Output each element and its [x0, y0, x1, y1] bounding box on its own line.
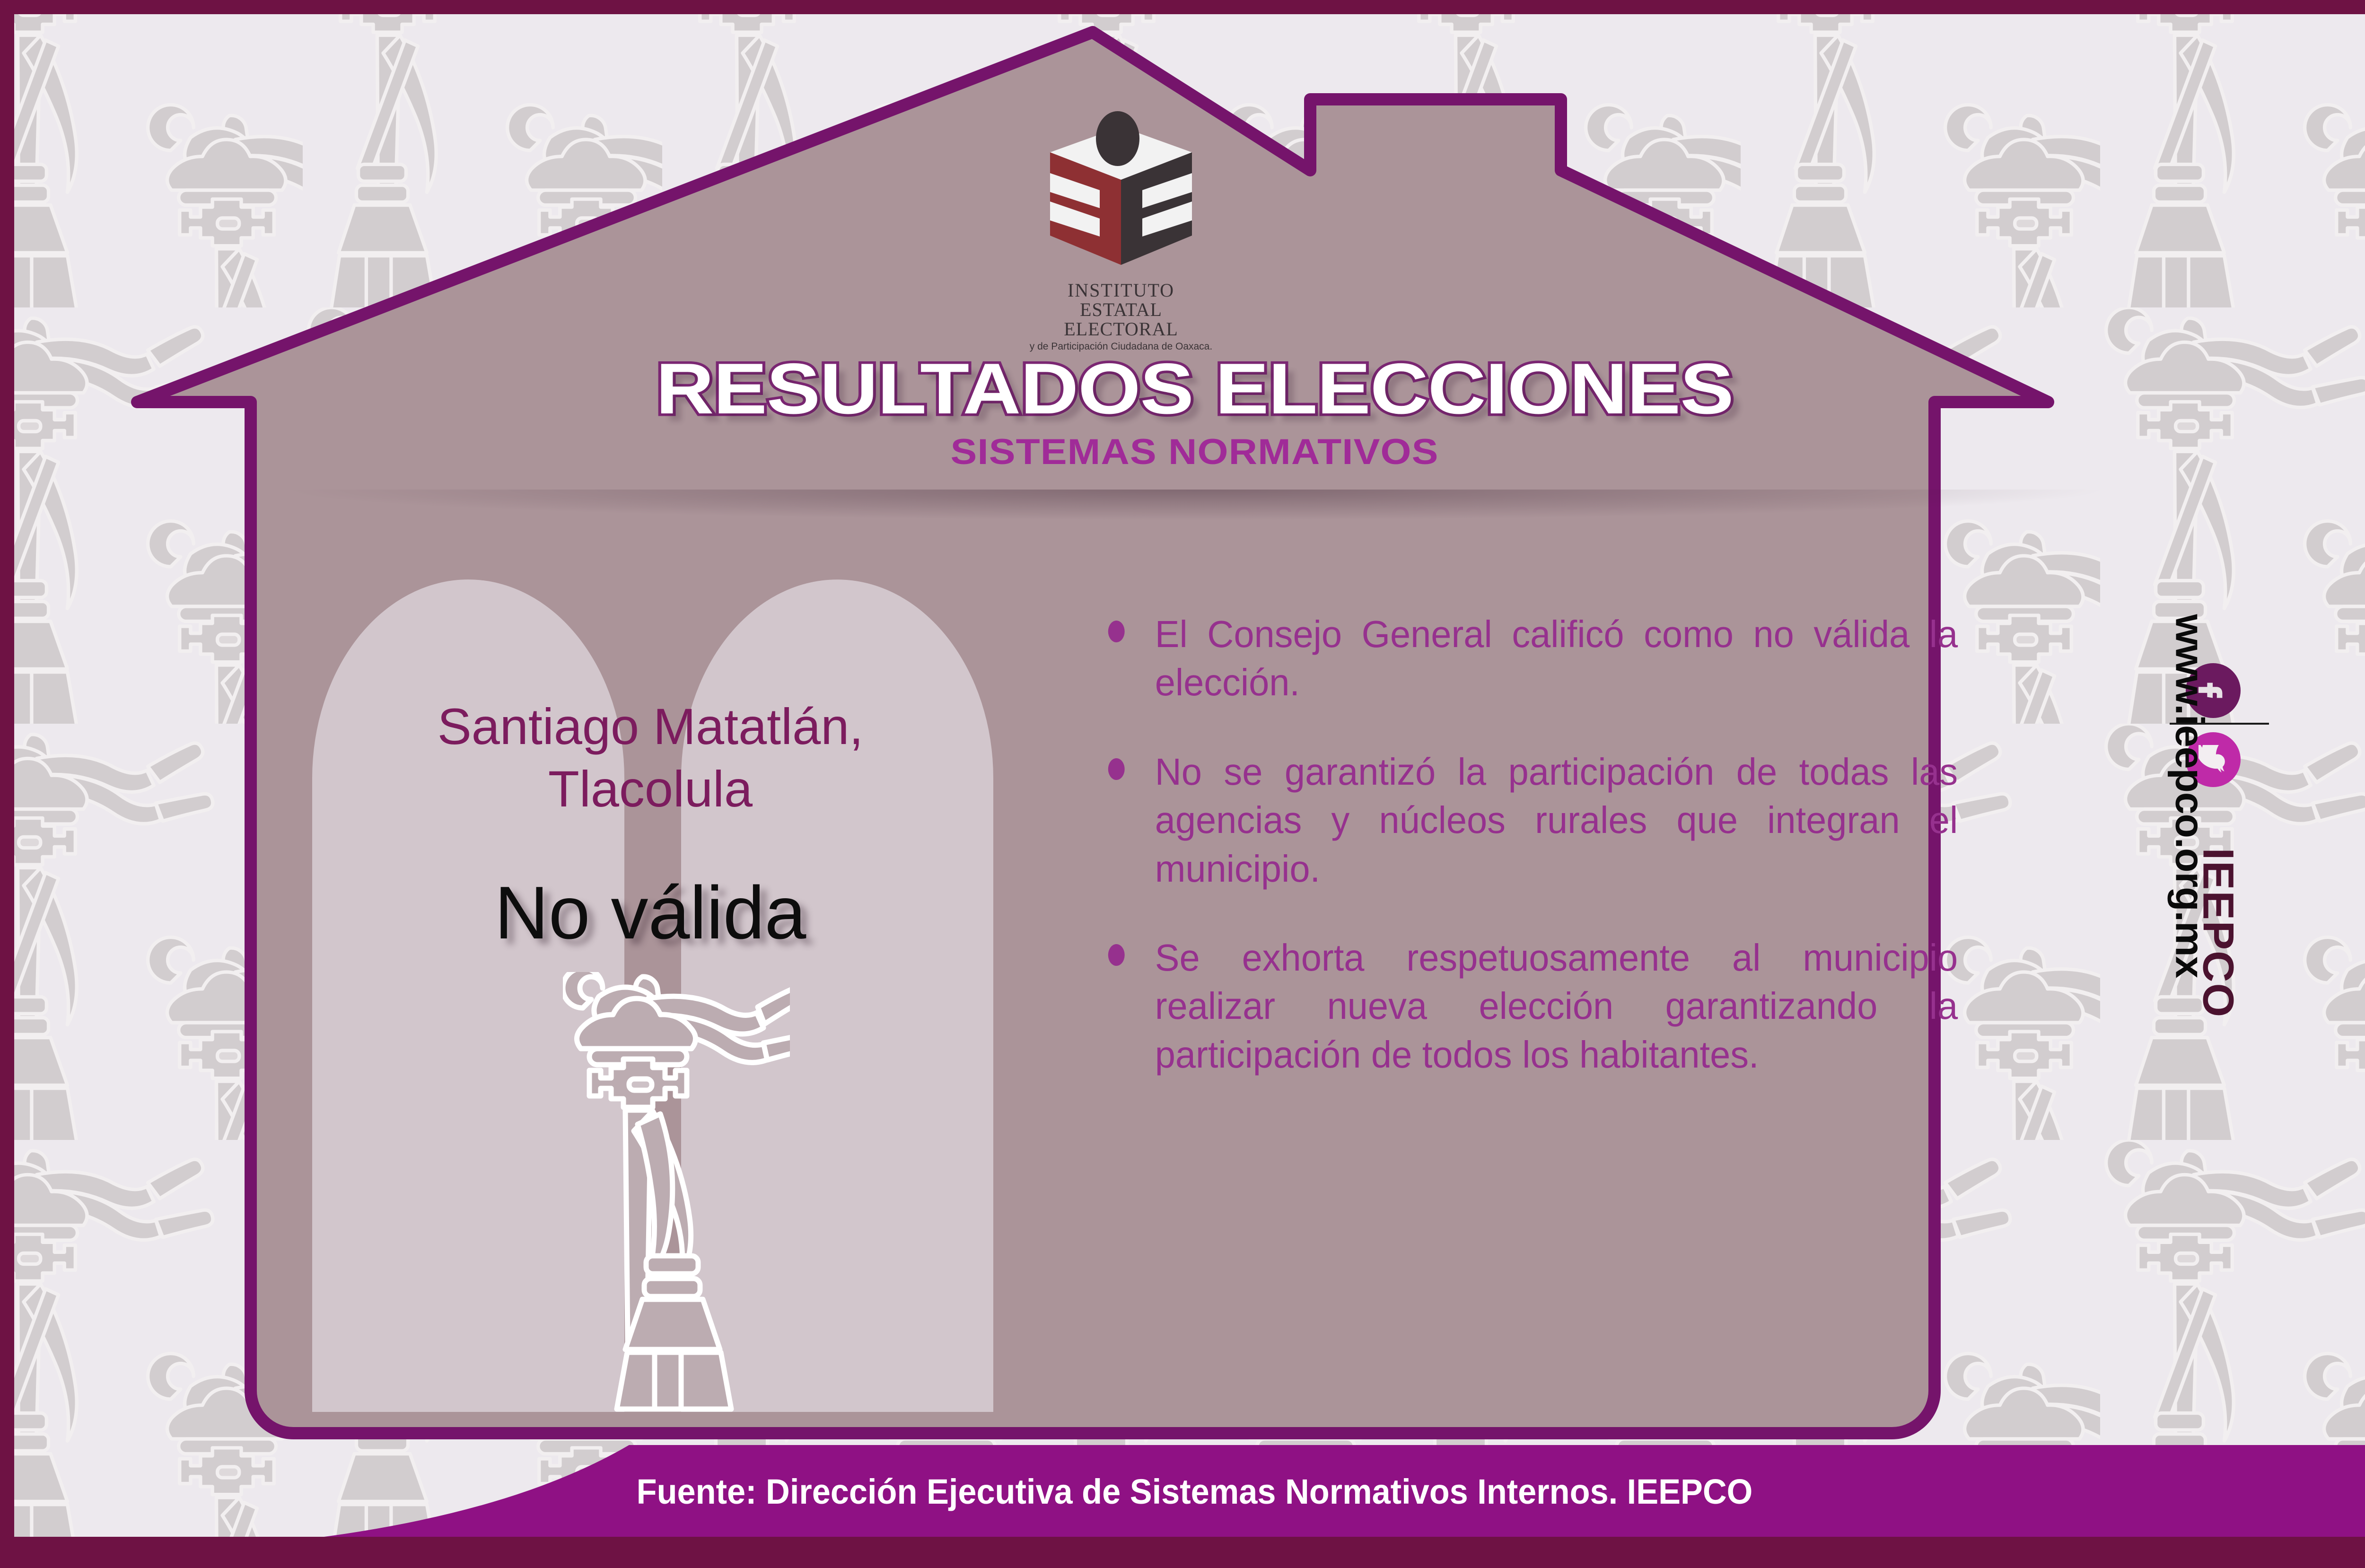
list-item: Se exhorta respetuosamente al municipio … — [1104, 934, 1958, 1079]
footer-strip — [14, 1537, 2365, 1554]
list-item: No se garantizó la participación de toda… — [1104, 748, 1958, 893]
footer-source-text: Fuente: Dirección Ejecutiva de Sistemas … — [60, 1472, 2329, 1512]
list-item: El Consejo General calificó como no váli… — [1104, 610, 1958, 707]
logo-line-1: INSTITUTO — [1022, 281, 1220, 300]
logo-line-2: ESTATAL ELECTORAL — [1022, 300, 1220, 339]
municipality-line-1: Santiago Matatlán, — [438, 698, 864, 755]
bullet-dot-icon — [1108, 758, 1125, 780]
municipality-name: Santiago Matatlán, Tlacolula — [331, 695, 970, 820]
ceremonial-staff-glyph-icon — [563, 972, 790, 1412]
page-subtitle: SISTEMAS NORMATIVOS — [0, 431, 2365, 473]
infographic-poster: INSTITUTO ESTATAL ELECTORAL y de Partici… — [0, 0, 2365, 1568]
bullet-list: El Consejo General calificó como no váli… — [1104, 610, 1984, 1079]
ieepco-logo: INSTITUTO ESTATAL ELECTORAL y de Partici… — [1022, 109, 1220, 336]
bullet-text: Se exhorta respetuosamente al municipio … — [1155, 937, 1958, 1076]
ballot-box-logo-icon — [1029, 109, 1213, 279]
sidebar-brand: IEEPCO — [2193, 848, 2243, 1113]
bullet-text: El Consejo General calificó como no váli… — [1155, 613, 1958, 703]
municipality-line-2: Tlacolula — [548, 760, 753, 817]
page-title: RESULTADOS ELECCIONES — [0, 348, 2365, 430]
verdict-label: No válida — [331, 870, 970, 956]
bullet-text: No se garantizó la participación de toda… — [1155, 751, 1958, 890]
social-sidebar: www.ieepco.org.mx IEEPCO — [2172, 653, 2332, 1164]
bullet-dot-icon — [1108, 621, 1125, 642]
bullet-dot-icon — [1108, 944, 1125, 966]
